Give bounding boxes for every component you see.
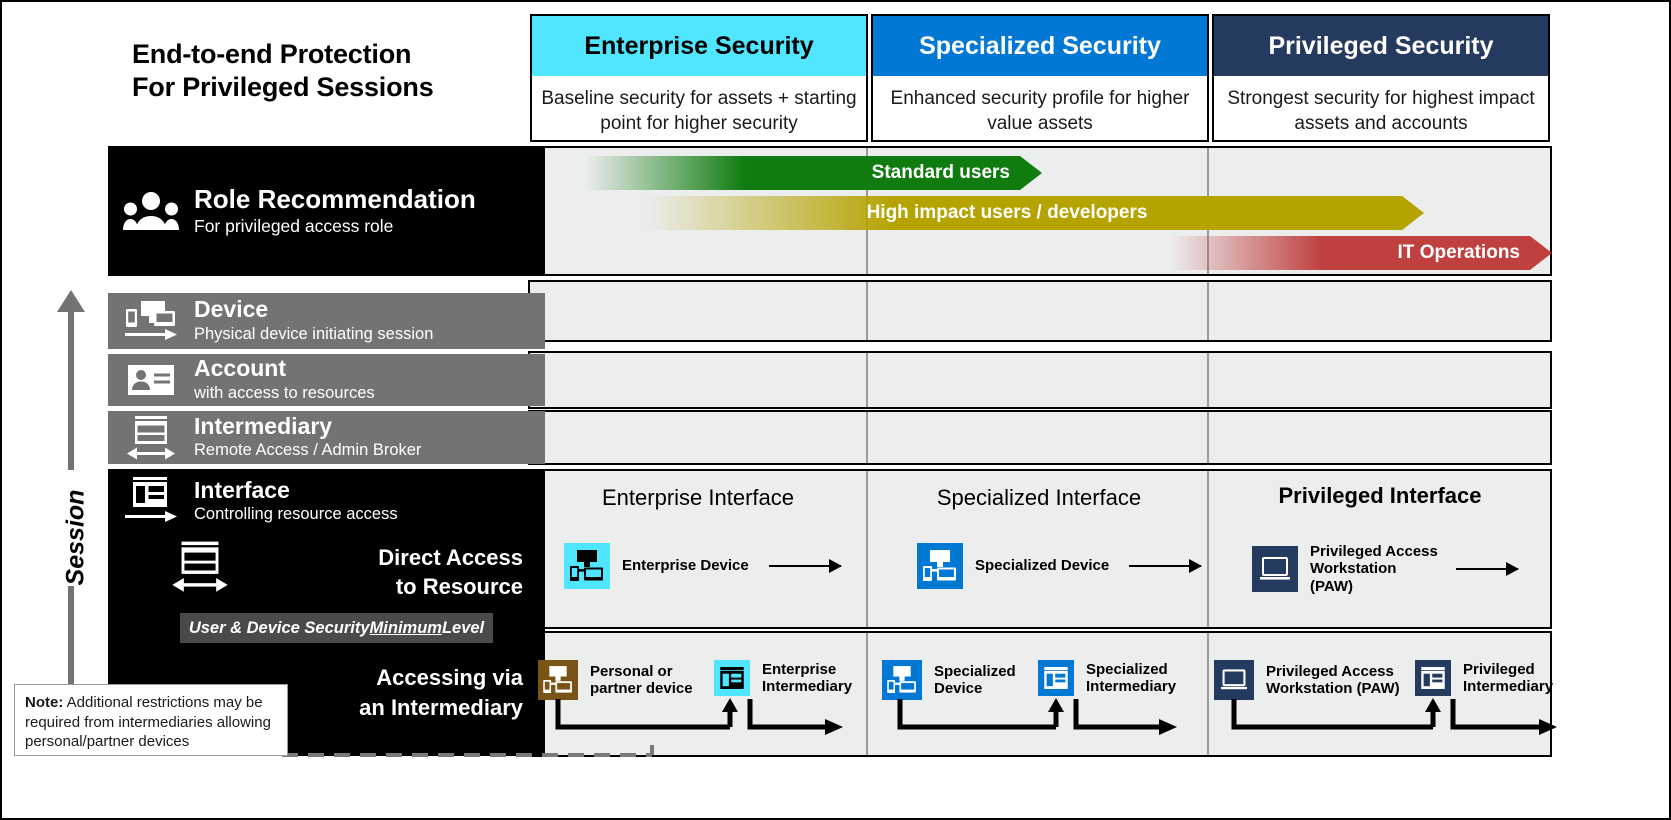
column-chip-specialized: Specialized Security [873,16,1207,76]
row-title-device: Device [194,297,433,323]
row-subtitle-intermediary: Remote Access / Admin Broker [194,441,421,461]
role-arrow-label-high-impact: High impact users / developers [867,202,1158,224]
via-intermediary-label-specialized: Specialized Intermediary [1086,661,1176,696]
direct-access-device-enterprise: Enterprise Device [564,543,864,589]
row-title-account: Account [194,356,375,382]
column-name-enterprise: Enterprise Security [584,32,813,61]
row-subtitle-account: with access to resources [194,384,375,404]
role-arrow-high-impact: High impact users / developers [622,196,1424,230]
row-subtitle-device: Physical device initiating session [194,325,433,345]
page-title: End-to-end Protection For Privileged Ses… [132,38,512,104]
column-name-privileged: Privileged Security [1268,32,1493,61]
via-intermediary-privileged: Privileged Intermediary [1415,660,1553,696]
flow-arrow-icon [1456,568,1518,570]
page-title-line1: End-to-end Protection [132,38,512,71]
row-label-device: Device Physical device initiating sessio… [108,293,545,349]
via-intermediary-specialized: Specialized Intermediary [1038,660,1176,696]
role-arrow-label-standard: Standard users [872,162,1020,184]
column-desc-enterprise: Baseline security for assets + starting … [532,86,866,136]
session-axis-label: Session [46,472,106,602]
direct-access-device-label-privileged: Privileged AccessWorkstation (PAW) [1310,543,1440,595]
role-arrow-label-it-ops: IT Operations [1398,242,1530,264]
column-desc-specialized: Enhanced security profile for higher val… [873,86,1207,136]
min-level-prefix: User & Device Security [189,619,370,638]
note-connector-dashed-line [272,737,792,777]
enterprise-device-icon [564,543,610,589]
grid-panel-intermediary [528,410,1552,465]
interface-title-enterprise: Enterprise Interface [532,485,864,511]
privileged-intermediary-icon [1415,660,1451,696]
column-desc-privileged: Strongest security for highest impact as… [1214,86,1548,136]
window-bidirectional-icon [108,416,194,460]
note-bold-label: Note: [25,694,63,711]
via-intermediary-enterprise: Enterprise Intermediary [714,660,852,696]
column-chip-privileged: Privileged Security [1214,16,1548,76]
flow-arrow-icon [769,565,841,567]
direct-access-device-specialized: Specialized Device [917,543,1217,589]
row-subtitle-role: For privileged access role [194,216,476,237]
people-icon [108,192,194,230]
arrow-tip-icon [1402,196,1424,230]
page-title-line2: For Privileged Sessions [132,71,512,104]
row-subtitle-interface: Controlling resource access [194,505,398,524]
specialized-device-icon [917,543,963,589]
grid-panel-device [528,280,1552,342]
row-title-intermediary: Intermediary [194,414,421,440]
arrow-tip-icon [1020,156,1042,190]
id-card-icon [108,365,194,395]
row-label-account: Account with access to resources [108,354,545,406]
via-intermediary-line1: Accessing via [359,663,523,693]
enterprise-intermediary-icon [714,660,750,696]
device-arrow-icon [108,299,194,343]
via-intermediary-label-enterprise: Enterprise Intermediary [762,661,852,696]
role-arrow-it-operations: IT Operations [1152,236,1552,270]
diagram-canvas: End-to-end Protection For Privileged Ses… [0,0,1671,820]
flow-arrow-icon [1129,565,1201,567]
grid-panel-account [528,351,1552,409]
interface-title-specialized: Specialized Interface [873,485,1205,511]
interface-title-privileged: Privileged Interface [1214,483,1546,509]
direct-access-line1: Direct Access [378,543,523,572]
direct-access-device-label-specialized: Specialized Device [975,557,1109,574]
role-arrow-standard-users: Standard users [562,156,1042,190]
paw-laptop-icon [1252,546,1298,592]
column-chip-enterprise: Enterprise Security [532,16,866,76]
min-level-underlined: Minimum [370,619,442,638]
direct-access-heading: Direct Access to Resource [378,543,523,601]
direct-access-device-privileged: Privileged AccessWorkstation (PAW) [1252,543,1562,595]
direct-access-device-label-enterprise: Enterprise Device [622,557,749,574]
column-header-privileged: Privileged Security Strongest security f… [1212,14,1550,142]
row-title-interface: Interface [194,478,398,504]
column-header-enterprise: Enterprise Security Baseline security fo… [530,14,868,142]
row-label-role-recommendation: Role Recommendation For privileged acces… [108,146,545,276]
min-security-level-badge: User & Device Security Minimum Level [180,613,493,643]
specialized-intermediary-icon [1038,660,1074,696]
direct-access-icon-wrap [170,541,260,598]
column-header-specialized: Specialized Security Enhanced security p… [871,14,1209,142]
column-name-specialized: Specialized Security [919,32,1161,61]
row-title-role: Role Recommendation [194,185,476,214]
min-level-suffix: Level [442,619,484,638]
via-intermediary-label-privileged: Privileged Intermediary [1463,661,1553,696]
direct-access-line2: to Resource [378,572,523,601]
note-box: Note: Additional restrictions may be req… [14,684,288,756]
arrow-tip-icon [1530,236,1552,270]
via-intermediary-line2: an Intermediary [359,693,523,723]
via-intermediary-heading: Accessing via an Intermediary [359,663,523,722]
window-bidirectional-icon [170,541,230,593]
row-label-intermediary: Intermediary Remote Access / Admin Broke… [108,411,545,464]
interface-arrow-icon [108,477,194,525]
